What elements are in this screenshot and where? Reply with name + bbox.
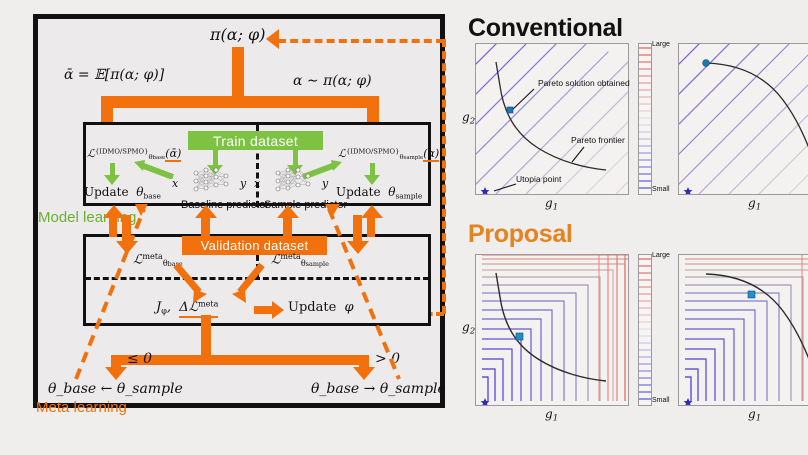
condition-gt-label: > 0 <box>375 351 400 367</box>
chart-proposal-left-ylabel: g2 <box>462 320 475 337</box>
policy-trunk-vertical <box>232 47 244 102</box>
feedback-dash-top <box>278 39 444 43</box>
meta-sample-to-objective-arrow <box>226 262 268 306</box>
baseline-meta-down-stem <box>122 215 131 243</box>
sample-loss-to-update-arrow <box>364 175 380 185</box>
sampling-label: α ∼ π(α; φ) <box>293 73 372 89</box>
feedback-dash-right <box>442 39 446 314</box>
nn-to-baseline-loss-arrow <box>131 157 175 179</box>
chart-proposal-right <box>678 254 808 406</box>
sample-loss-argument: (α) <box>423 147 439 162</box>
meta-loss-base-superscript: meta <box>142 252 162 261</box>
baseline-loss-to-update-arrow <box>104 175 120 185</box>
baseline-return-up-arrow <box>103 205 125 218</box>
update-base-label: Update θbase <box>84 185 161 200</box>
meta-loss-sample-subscript: θsample <box>301 259 329 268</box>
colorbar-conventional <box>638 43 652 195</box>
sample-nn-output-label: y <box>322 177 328 190</box>
objective-to-update-phi-stem <box>254 306 274 314</box>
validation-dataset-text: Validation dataset <box>201 238 309 253</box>
update-phi-param: φ <box>345 300 354 315</box>
meta-learning-section-label: Meta learning <box>36 399 127 416</box>
chart-proposal-left <box>475 254 629 406</box>
sample-return-up-arrow <box>361 205 383 218</box>
colorbar-proposal-top-label: Large <box>652 252 670 259</box>
colorbar-conventional-bottom-label: Small <box>652 186 670 193</box>
branch-left-arrow <box>105 367 127 380</box>
objective-J: Jφ, <box>156 300 171 315</box>
branch-right-arrow <box>353 367 375 380</box>
sample-return-up-stem <box>367 215 375 237</box>
update-base-param: θbase <box>136 185 161 199</box>
sample-nn-input-label: x <box>254 177 260 190</box>
algorithm-diagram: π(α; φ) ᾱ = 𝔼[π(α; φ)] α ∼ π(α; φ) Train… <box>33 14 445 408</box>
policy-distribution-text: π(α; φ) <box>210 25 265 44</box>
validation-to-sample-up-arrow <box>277 205 299 218</box>
chart-conventional-left <box>475 43 629 195</box>
chart-conventional-right <box>678 43 808 195</box>
screenshot-root: π(α; φ) ᾱ = 𝔼[π(α; φ)] α ∼ π(α; φ) Train… <box>0 0 808 455</box>
baseline-loss-superscript: {IDMO/SPMO} <box>95 147 149 155</box>
delta-meta-loss: Δℒmeta <box>179 300 218 318</box>
chart-proposal-right-xlabel: g1 <box>748 407 761 424</box>
proposal-panel-title: Proposal <box>468 220 573 249</box>
sample-meta-down-stem <box>353 215 362 243</box>
conventional-panel-title: Conventional <box>468 14 623 43</box>
sample-meta-down-arrow <box>347 241 369 254</box>
chart-proposal-left-xlabel: g1 <box>545 407 558 424</box>
expectation-label: ᾱ = 𝔼[π(α; φ)] <box>64 67 164 83</box>
baseline-return-up-stem <box>109 215 117 237</box>
sample-loss-formula: ℒ{IDMO/SPMO}θsample(α) <box>338 147 439 161</box>
assign-right-label: θ_base → θ_sample <box>311 381 446 397</box>
update-sample-word: Update <box>336 185 381 199</box>
policy-trunk-horizontal <box>101 96 379 108</box>
objective-to-update-phi-arrow <box>272 301 284 319</box>
colorbar-proposal <box>638 254 652 406</box>
validation-to-baseline-up-arrow <box>195 205 217 218</box>
meta-loss-sample-symbol: ℒ <box>271 252 280 267</box>
feedback-arrow-head <box>266 29 279 49</box>
policy-distribution-label: π(α; φ) <box>210 25 265 44</box>
annotation-pareto-solution-obtained: Pareto solution obtained <box>538 78 630 88</box>
update-phi-label: Update φ <box>288 300 354 315</box>
chart-conventional-left-ylabel: g2 <box>462 110 475 127</box>
baseline-loss-symbol: ℒ <box>87 147 95 160</box>
assign-left-label: θ_base ← θ_sample <box>48 381 183 397</box>
chart-conventional-right-xlabel: g1 <box>748 196 761 213</box>
condition-le-label: ≤ 0 <box>127 351 152 367</box>
update-sample-label: Update θsample <box>336 185 422 200</box>
update-sample-param: θsample <box>388 185 422 199</box>
train-dataset-text: Train dataset <box>213 133 298 149</box>
chart-conventional-left-xlabel: g1 <box>545 196 558 213</box>
meta-loss-sample-superscript: meta <box>280 252 300 261</box>
validation-to-sample-up-stem <box>283 215 292 237</box>
update-phi-word: Update <box>288 300 336 315</box>
sample-network-icon <box>268 167 318 195</box>
baseline-nn-output-label: y <box>240 177 246 190</box>
meta-loss-base-symbol: ℒ <box>133 252 142 267</box>
sample-loss-subscript: θsample <box>399 153 423 161</box>
objective-label: Jφ, Δℒmeta <box>156 300 218 316</box>
branch-trunk-stem <box>201 315 211 359</box>
meta-loss-sample-formula: ℒmetaθsample <box>271 252 329 268</box>
colorbar-proposal-bottom-label: Small <box>652 397 670 404</box>
validation-to-baseline-up-stem <box>201 215 210 237</box>
annotation-pareto-frontier: Pareto frontier <box>571 135 625 145</box>
update-base-word: Update <box>84 185 129 199</box>
annotation-utopia-point: Utopia point <box>516 174 561 184</box>
baseline-network-icon <box>186 167 236 195</box>
train-dataset-label: Train dataset <box>188 131 323 150</box>
colorbar-conventional-top-label: Large <box>652 41 670 48</box>
sample-loss-superscript: {IDMO/SPMO} <box>346 147 400 155</box>
baseline-nn-input-label: x <box>172 177 178 190</box>
